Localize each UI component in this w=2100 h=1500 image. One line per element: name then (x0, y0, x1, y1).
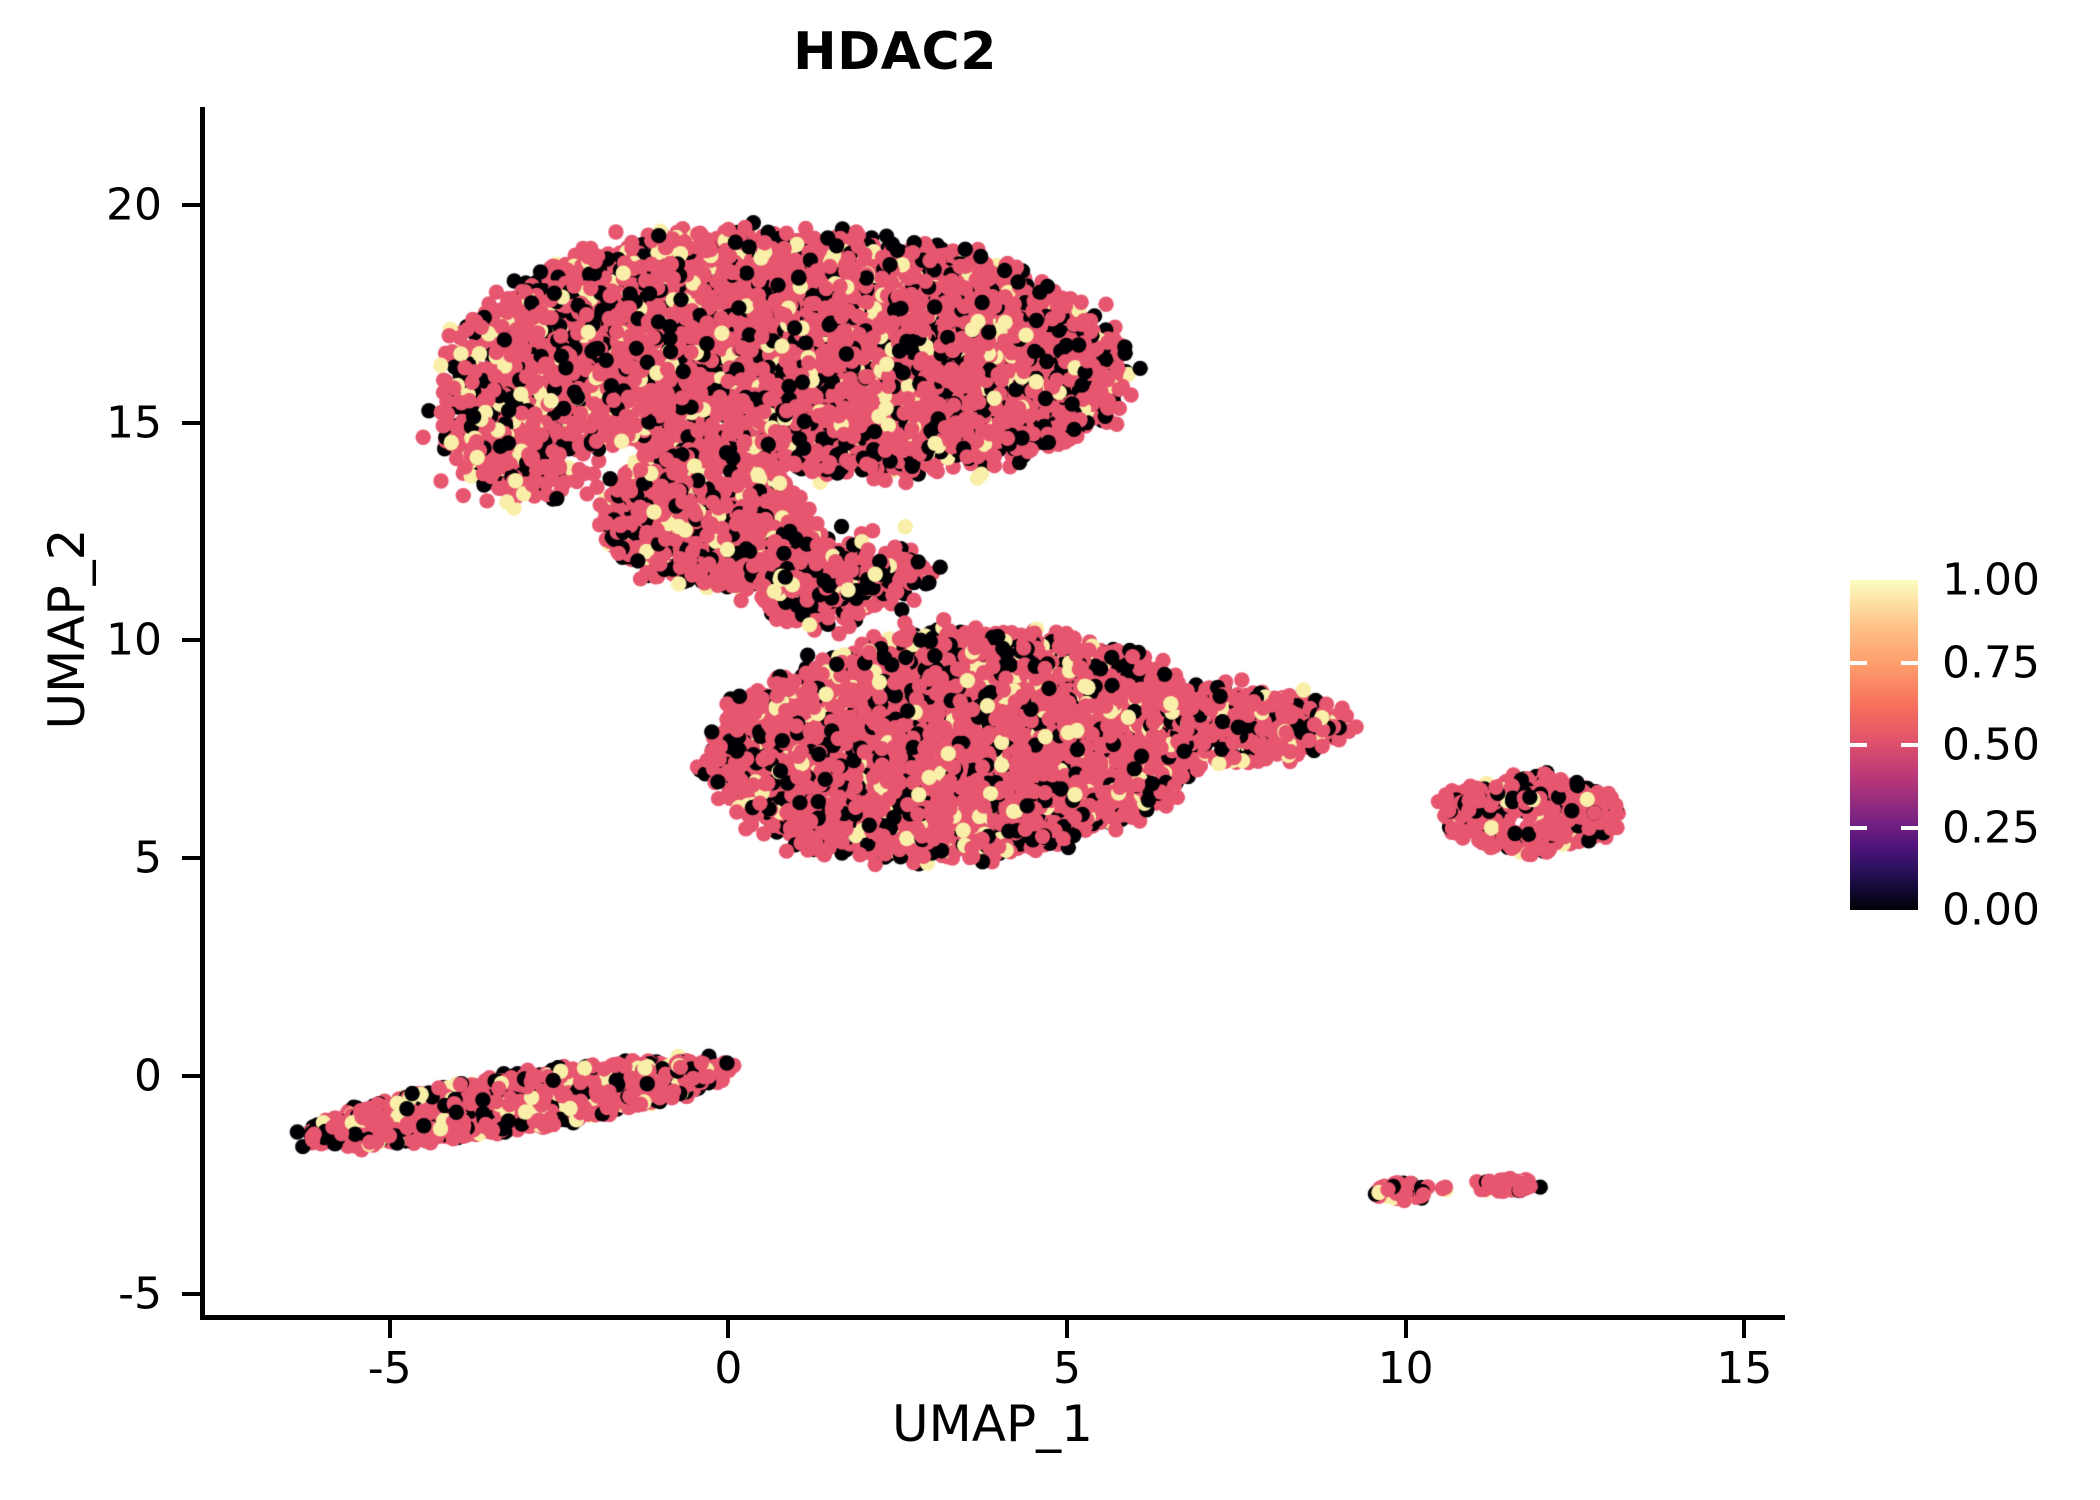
y-tick-label: 10 (106, 615, 162, 666)
y-axis-spine (200, 107, 205, 1320)
page-title: HDAC2 (0, 22, 1790, 82)
colorbar-tick-mark (1850, 826, 1867, 830)
x-tick-mark (726, 1320, 730, 1338)
colorbar-tick-mark (1850, 661, 1867, 665)
colorbar-tick-label: 0.50 (1942, 720, 2040, 771)
y-tick-mark (182, 638, 200, 642)
colorbar-tick-mark (1901, 743, 1918, 747)
y-tick-mark (182, 1074, 200, 1078)
y-tick-label: 0 (134, 1051, 162, 1102)
x-axis-spine (200, 1315, 1785, 1320)
colorbar: 0.000.250.500.751.00 (1850, 580, 2070, 910)
colorbar-tick-label: 1.00 (1942, 555, 2040, 606)
y-tick-mark (182, 1292, 200, 1296)
colorbar-tick-mark (1901, 826, 1918, 830)
y-tick-label: 20 (106, 179, 162, 230)
plot-axes: -5051015 -505101520 (200, 135, 1785, 1320)
colorbar-tick-mark (1850, 743, 1867, 747)
x-tick-label: 10 (1378, 1343, 1434, 1394)
x-tick-mark (1742, 1320, 1746, 1338)
colorbar-tick-label: 0.75 (1942, 637, 2040, 688)
colorbar-tick-mark (1901, 661, 1918, 665)
x-tick-label: 5 (1053, 1343, 1081, 1394)
y-tick-mark (182, 856, 200, 860)
y-tick-label: 15 (106, 397, 162, 448)
x-tick-mark (1404, 1320, 1408, 1338)
y-tick-mark (182, 421, 200, 425)
colorbar-tick-label: 0.25 (1942, 802, 2040, 853)
colorbar-tick-label: 0.00 (1942, 885, 2040, 936)
x-tick-label: -5 (368, 1343, 412, 1394)
x-tick-label: 0 (714, 1343, 742, 1394)
umap-feature-plot-figure: HDAC2 -5051015 -505101520 UMAP_1 UMAP_2 … (0, 0, 2100, 1500)
x-axis-label: UMAP_1 (200, 1395, 1785, 1453)
y-axis-label: UMAP_2 (38, 309, 96, 949)
scatter-canvas (200, 135, 1785, 1320)
y-tick-mark (182, 203, 200, 207)
x-tick-label: 15 (1716, 1343, 1772, 1394)
x-tick-mark (388, 1320, 392, 1338)
y-tick-label: -5 (118, 1268, 162, 1319)
x-tick-mark (1065, 1320, 1069, 1338)
y-tick-label: 5 (134, 833, 162, 884)
